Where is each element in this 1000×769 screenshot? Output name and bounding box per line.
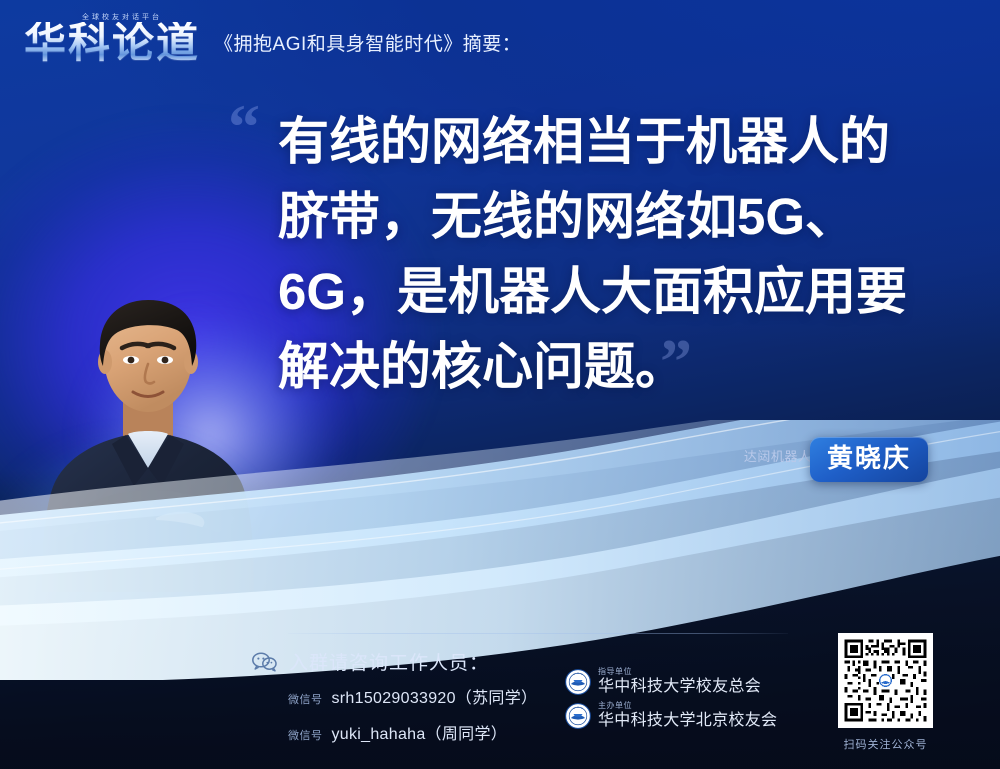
organization-kind: 指导单位 (598, 668, 761, 676)
organization-text: 主办单位 华中科技大学北京校友会 (598, 702, 777, 729)
organization-name: 华中科技大学北京校友会 (598, 713, 777, 729)
qr-block: 扫码关注公众号 (838, 633, 933, 752)
organization-name: 华中科技大学校友总会 (598, 679, 761, 695)
hust-emblem-icon (565, 703, 591, 729)
brand-logo: 全球校友对话平台 华科论道 (24, 10, 200, 64)
brand-tagline: 全球校友对话平台 (82, 12, 162, 22)
poster-canvas: 全球校友对话平台 华科论道 《拥抱AGI和具身智能时代》摘要： “ 有线的网络相… (0, 0, 1000, 769)
quote-line: 解决的核心问题。 (278, 329, 958, 404)
footer-divider (288, 633, 788, 634)
contact-label: 微信号 (288, 691, 323, 707)
brand-logo-text: 华科论道 (24, 22, 200, 64)
quote-close-mark: ” (660, 330, 692, 394)
quote-text: 有线的网络相当于机器人的 脐带，无线的网络如5G、 6G，是机器人大面积应用要 … (278, 104, 958, 404)
footer-title: 入群请咨询工作人员： (289, 648, 489, 675)
organization-item: 指导单位 华中科技大学校友总会 (565, 668, 777, 695)
contact-value[interactable]: yuki_hahaha（周同学） (332, 720, 508, 744)
organization-item: 主办单位 华中科技大学北京校友会 (565, 702, 777, 729)
poster-header: 全球校友对话平台 华科论道 《拥抱AGI和具身智能时代》摘要： (24, 10, 521, 64)
qr-caption: 扫码关注公众号 (838, 736, 933, 752)
quote-open-mark: “ (228, 95, 260, 159)
contact-value[interactable]: srh15029033920（苏同学） (332, 684, 538, 708)
quote-line: 脐带，无线的网络如5G、 (278, 179, 958, 254)
organization-text: 指导单位 华中科技大学校友总会 (598, 668, 761, 695)
organization-list: 指导单位 华中科技大学校友总会 主办单位 华中科技大学北京校友会 (565, 668, 777, 736)
speaker-name-badge: 黄晓庆 (810, 437, 928, 482)
qr-code-icon[interactable] (838, 633, 933, 728)
quote-line: 6G，是机器人大面积应用要 (278, 254, 958, 329)
speaker-portrait (28, 272, 268, 592)
episode-title: 《拥抱AGI和具身智能时代》摘要： (214, 29, 521, 64)
wechat-icon (252, 652, 278, 672)
contact-label: 微信号 (288, 727, 323, 743)
quote-line: 有线的网络相当于机器人的 (278, 104, 958, 179)
hust-emblem-icon (565, 669, 591, 695)
organization-kind: 主办单位 (598, 702, 777, 710)
